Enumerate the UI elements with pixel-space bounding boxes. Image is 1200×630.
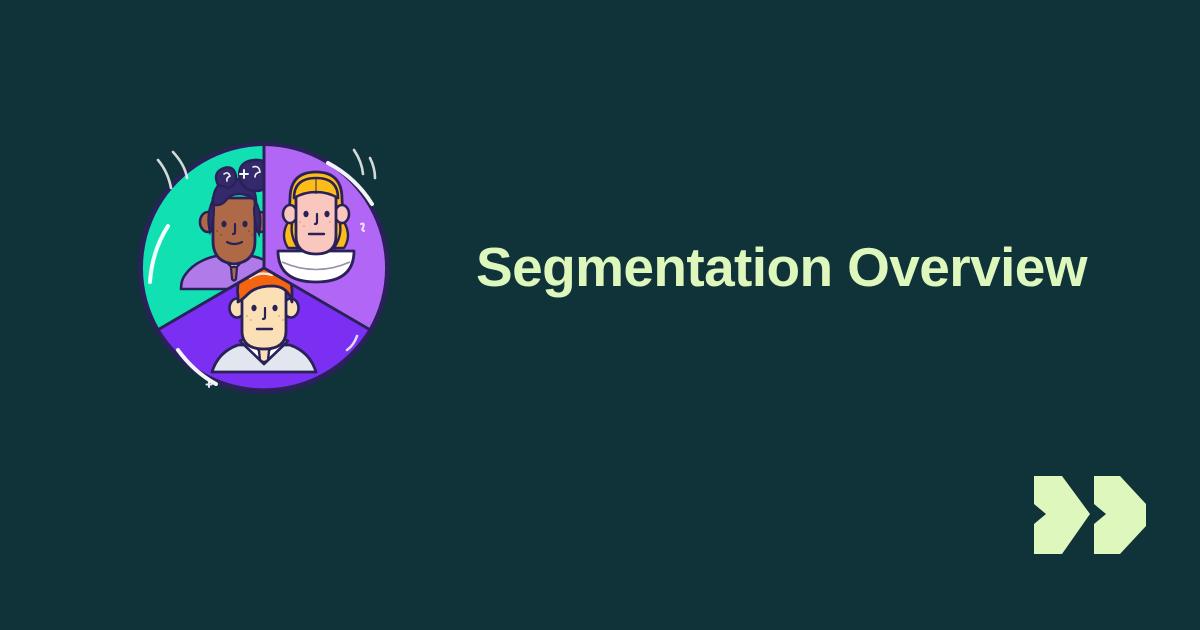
poster-canvas: Segmentation Overview bbox=[0, 0, 1200, 630]
page-title: Segmentation Overview bbox=[476, 232, 1156, 302]
segmentation-pie-chart bbox=[132, 136, 396, 400]
double-chevron-logo[interactable] bbox=[1032, 462, 1148, 568]
logo-left-chevron bbox=[1034, 476, 1090, 554]
logo-right-chevron bbox=[1094, 476, 1146, 554]
